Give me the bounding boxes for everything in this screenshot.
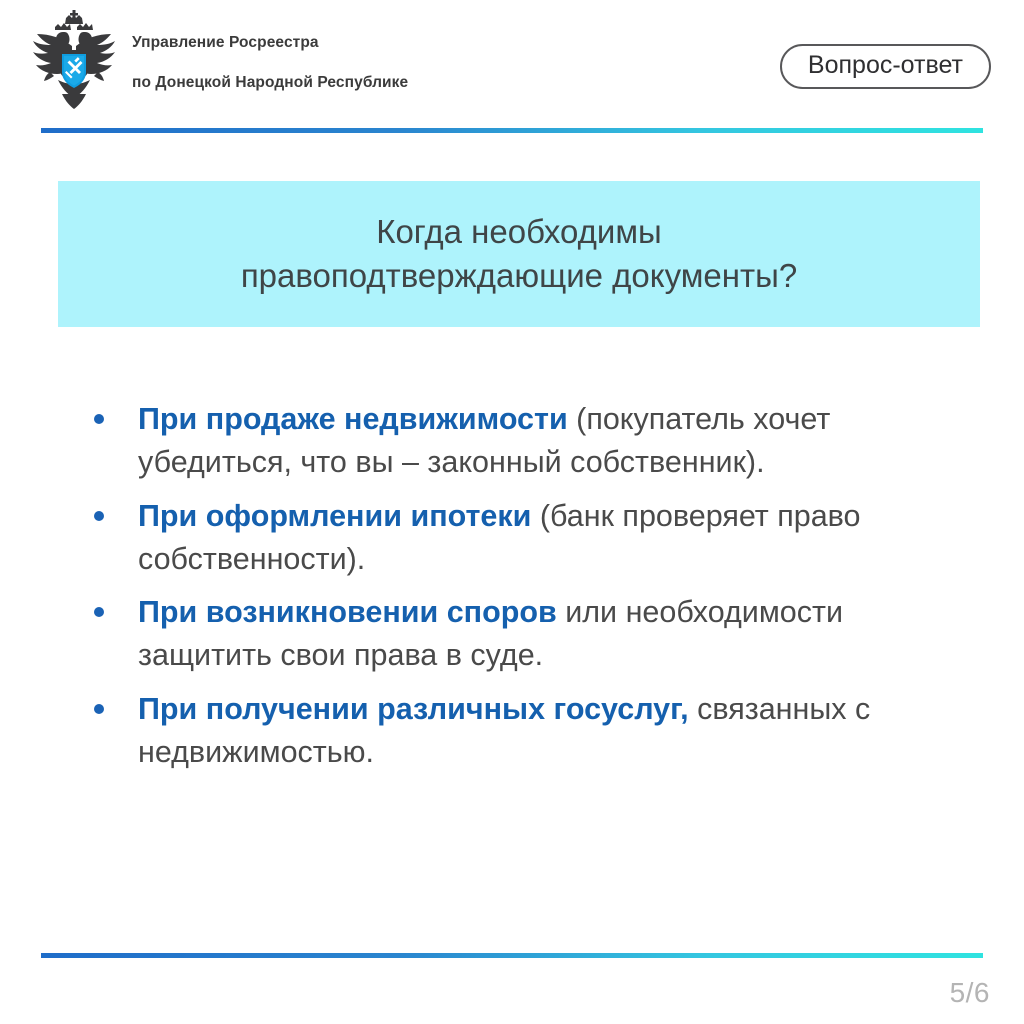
page-number: 5/6 (950, 979, 990, 1007)
organization-logo-block: Управление Росреестра по Донецкой Народн… (22, 10, 408, 114)
list-item-highlight: При получении различных госуслуг, (138, 692, 689, 726)
bullet-dot-icon (94, 414, 104, 424)
bullet-dot-icon (94, 607, 104, 617)
list-item: При получении различных госуслуг, связан… (80, 688, 966, 775)
organization-name-line-2: по Донецкой Народной Республике (132, 73, 408, 93)
slide-root: Управление Росреестра по Донецкой Народн… (0, 0, 1024, 1024)
slide-title-panel: Когда необходимы правоподтверждающие док… (58, 181, 980, 327)
bullet-dot-icon (94, 704, 104, 714)
page-title: Когда необходимы правоподтверждающие док… (241, 210, 797, 298)
divider-top (41, 128, 983, 133)
list-item: При оформлении ипотеки (банк проверяет п… (80, 495, 966, 582)
list-item: При продаже недвижимости (покупатель хоч… (80, 398, 966, 485)
bullet-dot-icon (94, 511, 104, 521)
list-item-highlight: При продаже недвижимости (138, 402, 568, 436)
divider-bottom (41, 953, 983, 958)
rosreestr-eagle-icon (22, 10, 126, 114)
list-item: При возникновении споров или необходимос… (80, 591, 966, 678)
slide-header: Управление Росреестра по Донецкой Народн… (0, 0, 1024, 118)
page-title-line-2: правоподтверждающие документы? (241, 254, 797, 298)
question-answer-badge[interactable]: Вопрос-ответ (780, 44, 991, 89)
organization-name: Управление Росреестра по Донецкой Народн… (132, 11, 408, 112)
organization-name-line-1: Управление Росреестра (132, 33, 408, 53)
page-title-line-1: Когда необходимы (241, 210, 797, 254)
bullet-list: При продаже недвижимости (покупатель хоч… (80, 398, 966, 774)
list-item-highlight: При возникновении споров (138, 595, 557, 629)
list-item-highlight: При оформлении ипотеки (138, 499, 531, 533)
